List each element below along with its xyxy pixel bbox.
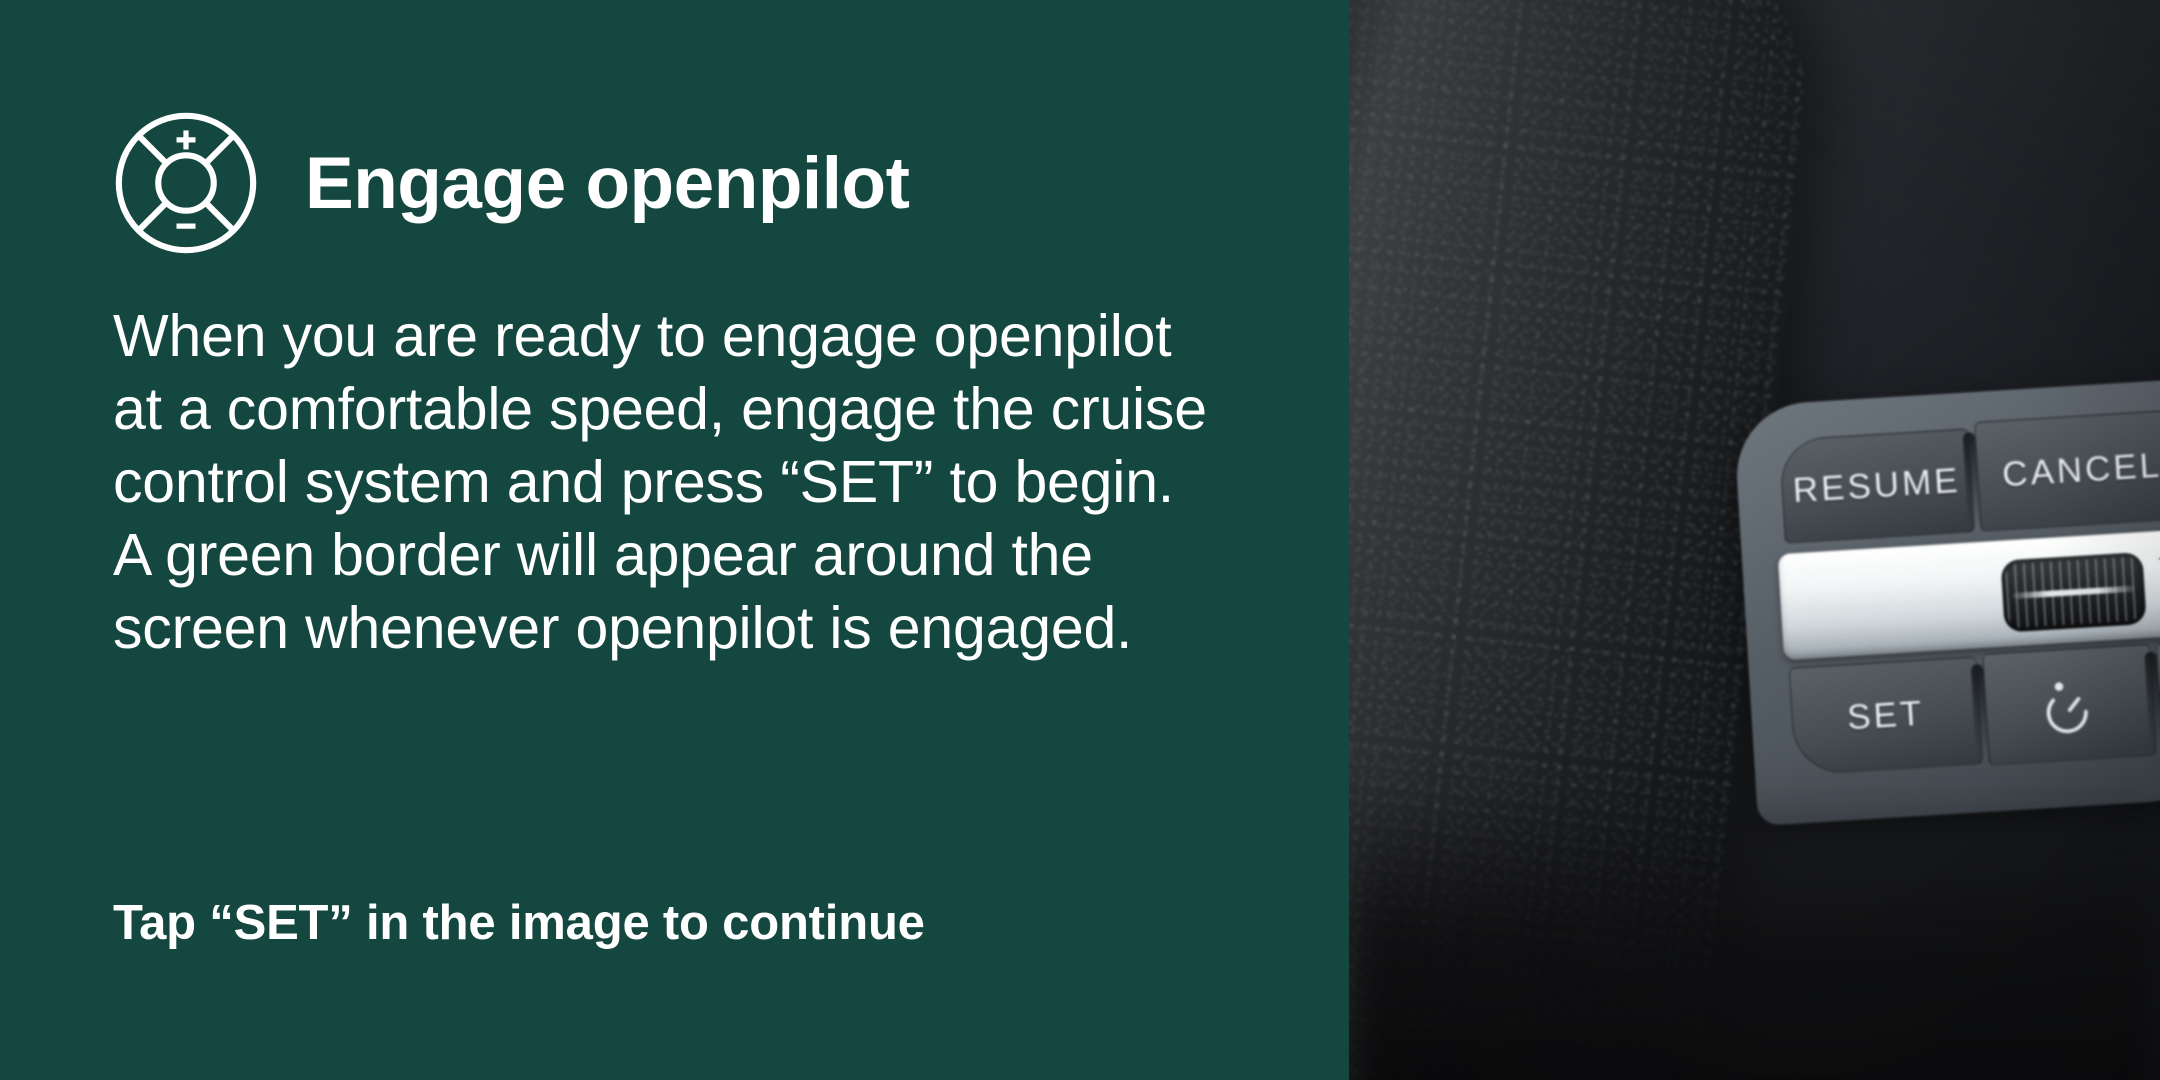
steering-wheel-photo[interactable]: RESUME CANCEL + – SET [1349,0,2160,1080]
call-to-action-text: Tap “SET” in the image to continue [113,895,925,951]
following-distance-button[interactable] [1982,644,2157,766]
body-line: at a comfortable speed, engage the cruis… [113,373,1293,446]
cruise-control-icon [113,110,259,256]
photo-foreground-shadow [1349,780,2160,1080]
body-line: control system and press “SET” to begin. [113,446,1293,519]
set-button[interactable]: SET [1789,656,1983,775]
following-distance-icon [2036,671,2104,739]
resume-button-label: RESUME [1792,461,1962,511]
resume-button[interactable]: RESUME [1779,428,1975,543]
body-line: When you are ready to engage openpilot [113,300,1293,373]
instruction-panel: Engage openpilot When you are ready to e… [0,0,1349,1080]
body-line: screen whenever openpilot is engaged. [113,592,1293,665]
cancel-button[interactable]: CANCEL [1974,409,2160,532]
body-line: A green border will appear around the [113,519,1293,592]
page-title: Engage openpilot [305,147,909,220]
cruise-control-button-cluster: RESUME CANCEL + – SET [1733,378,2160,826]
instruction-body: When you are ready to engage openpilot a… [113,300,1293,665]
set-button-label: SET [1846,694,1925,739]
rocker-plus-minus-markings: + – [2136,543,2160,626]
onboarding-screen: Engage openpilot When you are ready to e… [0,0,2160,1080]
knurled-roller-wheel[interactable] [2001,552,2147,633]
panel-header: Engage openpilot [113,110,909,256]
cancel-button-label: CANCEL [2001,446,2160,496]
